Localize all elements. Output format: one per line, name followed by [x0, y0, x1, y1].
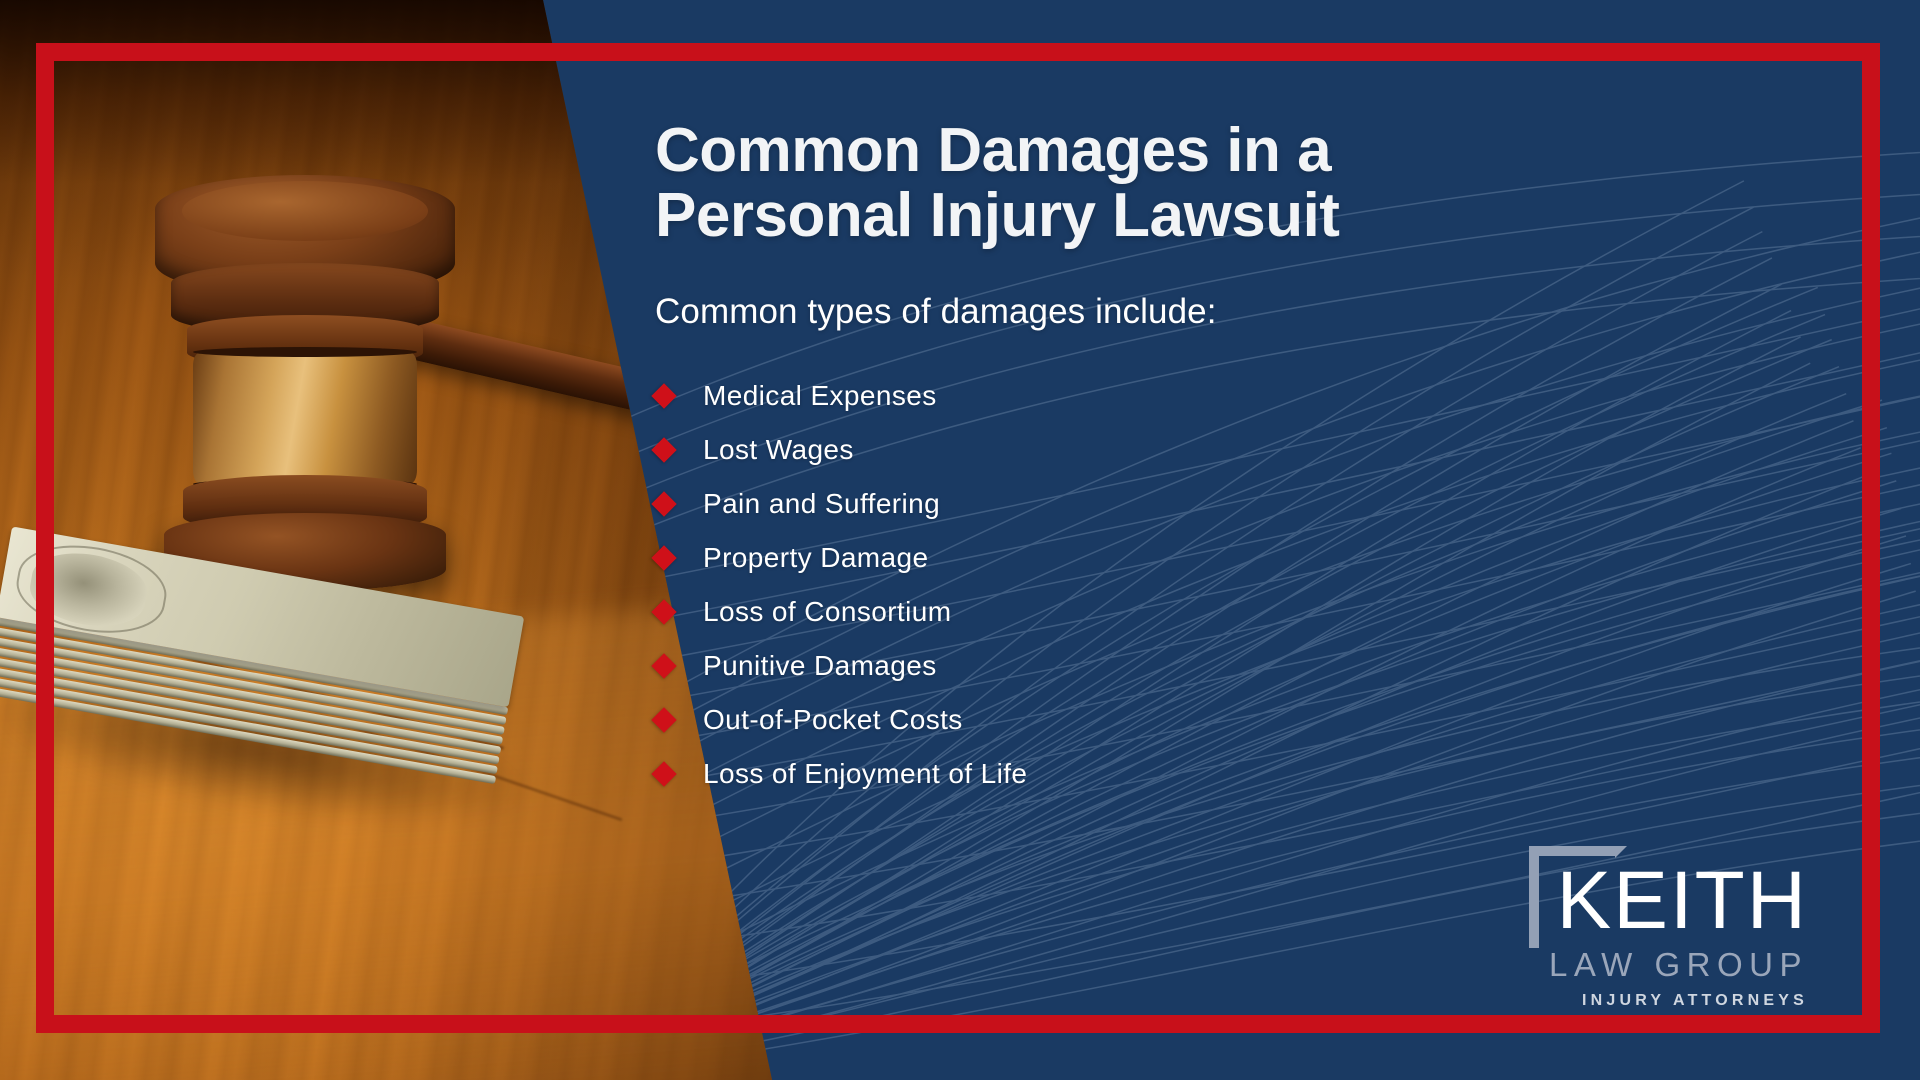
- diamond-bullet-icon: [651, 437, 676, 462]
- text-content-block: Common Damages in a Personal Injury Laws…: [655, 118, 1655, 806]
- diamond-bullet-icon: [651, 491, 676, 516]
- diamond-bullet-icon: [651, 383, 676, 408]
- list-item-label: Property Damage: [703, 542, 928, 574]
- logo-subname: LAW GROUP: [1535, 946, 1808, 984]
- list-item: Loss of Consortium: [655, 590, 1655, 634]
- list-item-label: Lost Wages: [703, 434, 854, 466]
- list-item-label: Loss of Consortium: [703, 596, 951, 628]
- list-item-label: Pain and Suffering: [703, 488, 940, 520]
- list-item: Medical Expenses: [655, 374, 1655, 418]
- logo-name: KEITH: [1535, 862, 1808, 940]
- damages-list: Medical Expenses Lost Wages Pain and Suf…: [655, 374, 1655, 796]
- gavel-brass-band: [193, 353, 417, 483]
- page-title: Common Damages in a Personal Injury Laws…: [655, 118, 1655, 248]
- diamond-bullet-icon: [651, 761, 676, 786]
- logo-tagline: INJURY ATTORNEYS: [1535, 992, 1808, 1010]
- diamond-bullet-icon: [651, 707, 676, 732]
- list-item: Pain and Suffering: [655, 482, 1655, 526]
- list-item: Loss of Enjoyment of Life: [655, 752, 1655, 796]
- gavel-head: [150, 175, 460, 585]
- slide-canvas: Common Damages in a Personal Injury Laws…: [0, 0, 1920, 1080]
- page-title-line-1: Common Damages in a: [655, 118, 1655, 183]
- list-item: Lost Wages: [655, 428, 1655, 472]
- list-item-label: Out-of-Pocket Costs: [703, 704, 963, 736]
- list-item-label: Loss of Enjoyment of Life: [703, 758, 1027, 790]
- list-item: Out-of-Pocket Costs: [655, 698, 1655, 742]
- subtitle: Common types of damages include:: [655, 292, 1655, 332]
- logo-wordmark-row: KEITH: [1535, 862, 1808, 940]
- diamond-bullet-icon: [651, 653, 676, 678]
- diamond-bullet-icon: [651, 545, 676, 570]
- list-item: Punitive Damages: [655, 644, 1655, 688]
- page-title-line-2: Personal Injury Lawsuit: [655, 183, 1655, 248]
- diamond-bullet-icon: [651, 599, 676, 624]
- keith-law-group-logo: KEITH LAW GROUP INJURY ATTORNEYS: [1535, 862, 1808, 1010]
- list-item-label: Medical Expenses: [703, 380, 937, 412]
- list-item-label: Punitive Damages: [703, 650, 937, 682]
- list-item: Property Damage: [655, 536, 1655, 580]
